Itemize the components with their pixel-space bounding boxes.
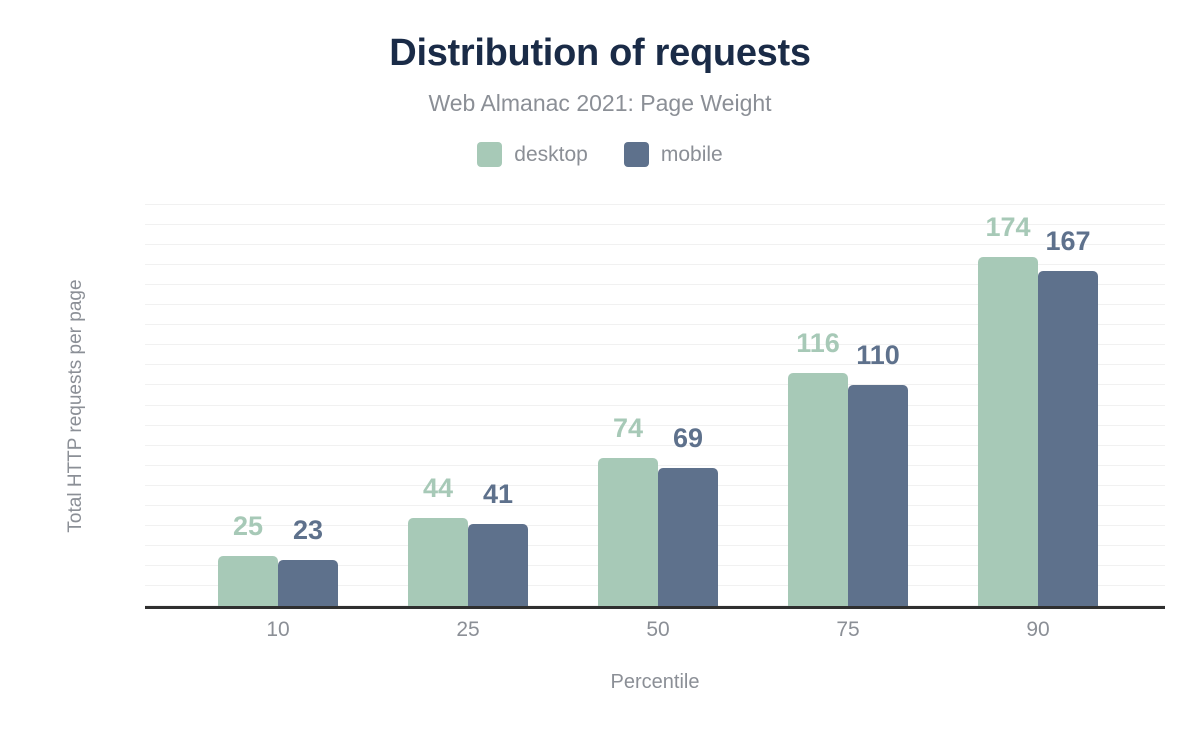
chart-legend: desktop mobile (0, 142, 1200, 167)
bar-desktop-p75[interactable] (788, 373, 848, 606)
zero-axis-line (145, 606, 1165, 609)
bar-label-mobile-p50: 69 (628, 422, 748, 454)
chart-title: Distribution of requests (0, 30, 1200, 76)
bar-label-mobile-p75: 110 (818, 339, 938, 371)
x-axis-title: Percentile (145, 671, 1165, 694)
chart-root: Distribution of requests Web Almanac 202… (0, 0, 1200, 742)
bar-mobile-p90[interactable] (1038, 271, 1098, 606)
x-axis-tick-10: 10 (198, 617, 358, 643)
y-axis-title: Total HTTP requests per page (65, 196, 87, 616)
legend-item-desktop[interactable]: desktop (477, 142, 588, 167)
chart-subtitle: Web Almanac 2021: Page Weight (0, 88, 1200, 118)
bar-desktop-p10[interactable] (218, 556, 278, 606)
legend-item-mobile[interactable]: mobile (624, 142, 723, 167)
bar-label-mobile-p10: 23 (248, 514, 368, 546)
bar-mobile-p25[interactable] (468, 524, 528, 606)
bar-desktop-p50[interactable] (598, 458, 658, 606)
legend-swatch-mobile (624, 142, 649, 167)
bar-mobile-p75[interactable] (848, 385, 908, 606)
x-axis-tick-75: 75 (768, 617, 928, 643)
bar-mobile-p50[interactable] (658, 468, 718, 606)
bar-desktop-p25[interactable] (408, 518, 468, 606)
x-axis-tick-90: 90 (958, 617, 1118, 643)
plot-area: 050100150200 252344417469116110174167 10… (145, 205, 1165, 606)
x-axis-tick-25: 25 (388, 617, 548, 643)
legend-label-mobile: mobile (661, 142, 723, 167)
bar-mobile-p10[interactable] (278, 560, 338, 606)
bar-desktop-p90[interactable] (978, 257, 1038, 606)
legend-swatch-desktop (477, 142, 502, 167)
x-axis-tick-50: 50 (578, 617, 738, 643)
gridline (145, 204, 1165, 205)
bar-label-mobile-p25: 41 (438, 478, 558, 510)
legend-label-desktop: desktop (514, 142, 588, 167)
bar-label-mobile-p90: 167 (1008, 225, 1128, 257)
